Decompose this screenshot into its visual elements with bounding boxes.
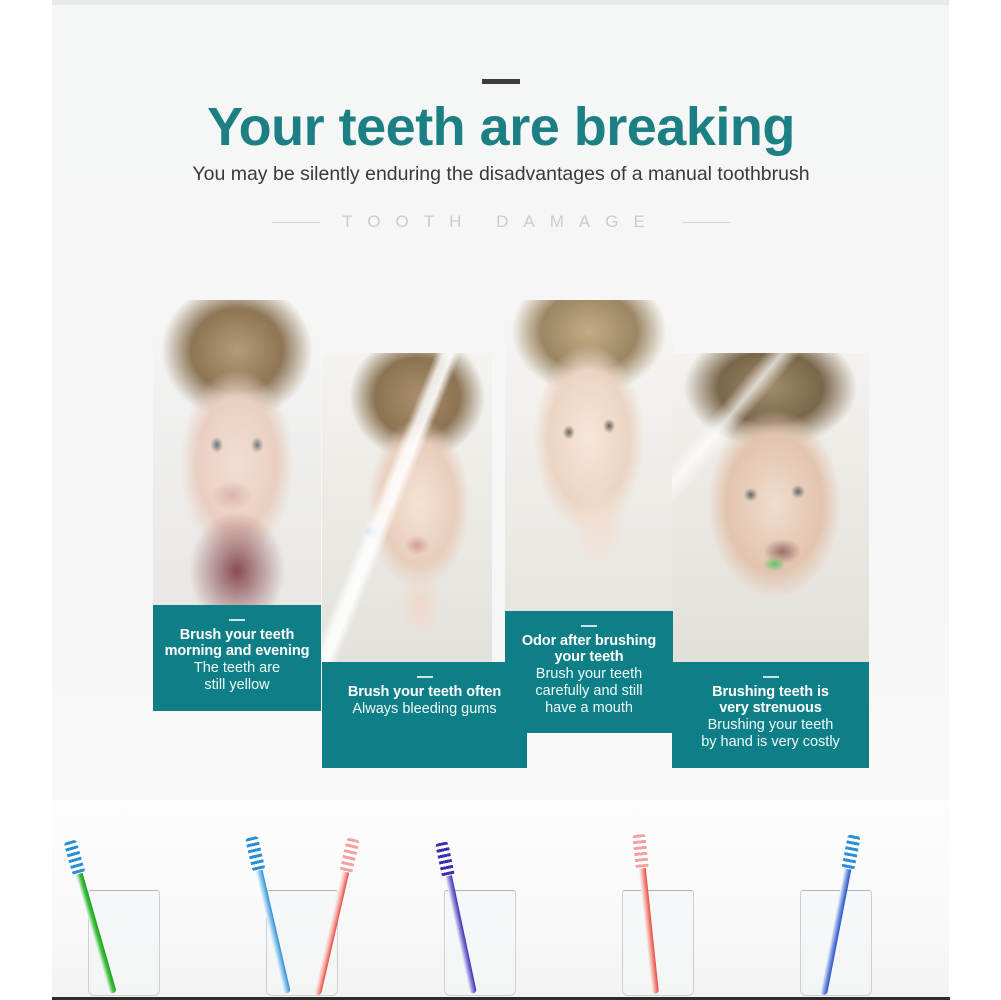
caption-sub-line: Brushing your teeth — [672, 717, 869, 734]
toothbrush-bristles — [435, 841, 455, 877]
toothbrush-bristles — [339, 837, 359, 873]
caption-sub-line: Brush your teeth — [505, 666, 673, 683]
caption-dash-icon — [417, 676, 433, 678]
caption-title-4: Brushing teeth is very strenuous — [672, 684, 869, 716]
photo-image-worried-woman — [153, 300, 321, 615]
caption-sub-line: The teeth are — [153, 660, 321, 677]
photo-collage: Brush your teeth morning and evening The… — [52, 5, 950, 795]
glass-4 — [622, 890, 694, 996]
caption-title-line: Brush your teeth — [153, 627, 321, 643]
caption-sub-line: Always bleeding gums — [322, 701, 527, 718]
caption-dash-icon — [229, 619, 245, 621]
caption-card-4: Brushing teeth is very strenuous Brushin… — [672, 662, 869, 768]
caption-sub-line: by hand is very costly — [672, 734, 869, 751]
photo-panel-girl-toothbrush — [322, 353, 492, 668]
caption-title-line: Brushing teeth is — [672, 684, 869, 700]
toothbrush-bristles — [64, 839, 86, 875]
left-margin — [0, 0, 52, 1000]
content-canvas: Your teeth are breaking You may be silen… — [52, 5, 950, 998]
caption-card-3: Odor after brushing your teeth Brush you… — [505, 611, 673, 733]
photo-panel-woman-covering-mouth — [505, 300, 673, 615]
toothbrush-bristles — [841, 834, 860, 870]
photo-image-woman-covering-mouth — [505, 300, 673, 615]
caption-sub-2: Always bleeding gums — [322, 701, 527, 718]
promo-page: Your teeth are breaking You may be silen… — [0, 0, 1001, 1000]
caption-card-2: Brush your teeth often Always bleeding g… — [322, 662, 527, 768]
right-margin — [949, 0, 1001, 1000]
toothbrush-bristles — [632, 834, 648, 869]
caption-title-2: Brush your teeth often — [322, 684, 527, 700]
photo-panel-man-brushing — [672, 353, 869, 668]
caption-title-line: your teeth — [505, 649, 673, 665]
caption-dash-icon — [763, 676, 779, 678]
photo-panel-worried-woman — [153, 300, 321, 615]
caption-sub-line: still yellow — [153, 677, 321, 694]
caption-title-line: Odor after brushing — [505, 633, 673, 649]
caption-sub-3: Brush your teeth carefully and still hav… — [505, 666, 673, 717]
caption-sub-4: Brushing your teeth by hand is very cost… — [672, 717, 869, 751]
caption-sub-1: The teeth are still yellow — [153, 660, 321, 694]
caption-sub-line: carefully and still — [505, 683, 673, 700]
caption-title-line: very strenuous — [672, 700, 869, 716]
caption-dash-icon — [581, 625, 597, 627]
caption-title-3: Odor after brushing your teeth — [505, 633, 673, 665]
caption-card-1: Brush your teeth morning and evening The… — [153, 605, 321, 711]
caption-sub-line: have a mouth — [505, 700, 673, 717]
toothbrush-bristles — [245, 836, 265, 872]
caption-title-line: morning and evening — [153, 643, 321, 659]
photo-image-girl-toothbrush — [322, 353, 492, 668]
photo-image-man-brushing — [672, 353, 869, 668]
toothbrush-glasses-photo — [52, 800, 950, 998]
caption-title-1: Brush your teeth morning and evening — [153, 627, 321, 659]
caption-title-line: Brush your teeth often — [322, 684, 527, 700]
